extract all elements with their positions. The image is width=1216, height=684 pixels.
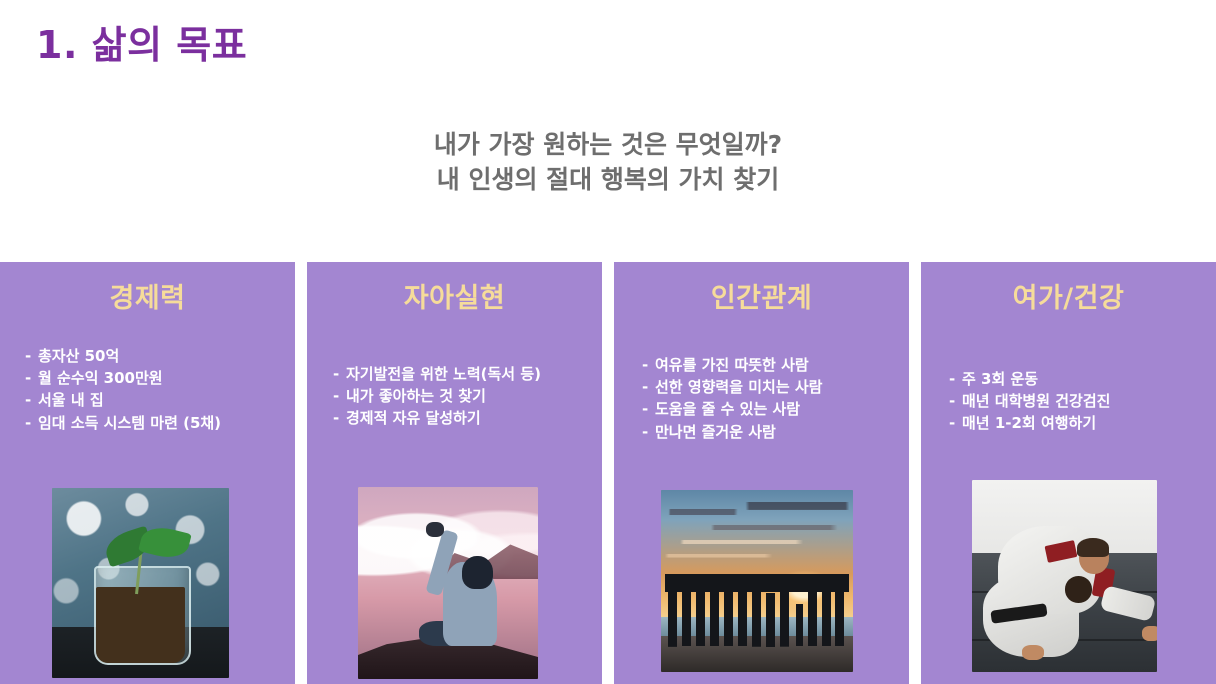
person-raising-fist-on-mountain-above-clouds-photo [358, 487, 538, 679]
list-item-label: 자기발전을 위한 노력(독서 등) [346, 365, 541, 383]
list-item-label: 주 3회 운동 [962, 370, 1038, 388]
list-item-label: 매년 1-2회 여행하기 [962, 414, 1096, 432]
goal-card-relationships[interactable]: 인간관계 -여유를 가진 따뜻한 사람 -선한 영향력을 미치는 사람 -도움을… [614, 262, 909, 684]
list-item: -임대 소득 시스템 마련 (5채) [25, 412, 295, 434]
card-title: 경제력 [109, 283, 185, 315]
card-bullet-list: -여유를 가진 따뜻한 사람 -선한 영향력을 미치는 사람 -도움을 줄 수 … [614, 354, 909, 442]
subtitle-line-1: 내가 가장 원하는 것은 무엇일까? [0, 128, 1216, 163]
list-item-label: 내가 좋아하는 것 찾기 [346, 387, 486, 405]
card-title: 자아실현 [404, 283, 505, 315]
goal-card-leisure-health[interactable]: 여가/건강 -주 3회 운동 -매년 대학병원 건강검진 -매년 1-2회 여행… [921, 262, 1216, 684]
list-item: -도움을 줄 수 있는 사람 [642, 398, 909, 420]
bullet-dash-icon: - [642, 398, 655, 420]
bullet-dash-icon: - [949, 390, 962, 412]
people-holding-hands-beach-sunset-photo [661, 490, 853, 672]
bullet-dash-icon: - [25, 345, 38, 367]
bullet-dash-icon: - [949, 412, 962, 434]
list-item-label: 만나면 즐거운 사람 [655, 423, 776, 441]
list-item: -여유를 가진 따뜻한 사람 [642, 354, 909, 376]
list-item: -자기발전을 위한 노력(독서 등) [333, 363, 602, 385]
jiu-jitsu-grappling-training-photo [972, 480, 1157, 672]
subtitle-line-2: 내 인생의 절대 행복의 가치 찾기 [0, 163, 1216, 198]
card-title: 인간관계 [711, 283, 812, 315]
bullet-dash-icon: - [642, 376, 655, 398]
goal-card-row: 경제력 -총자산 50억 -월 순수익 300만원 -서울 내 집 -임대 소득… [0, 262, 1216, 684]
list-item: -내가 좋아하는 것 찾기 [333, 385, 602, 407]
bullet-dash-icon: - [25, 412, 38, 434]
list-item-label: 매년 대학병원 건강검진 [962, 392, 1110, 410]
list-item-label: 총자산 50억 [38, 347, 119, 365]
list-item-label: 월 순수익 300만원 [38, 369, 163, 387]
list-item-label: 도움을 줄 수 있는 사람 [655, 400, 800, 418]
bullet-dash-icon: - [333, 363, 346, 385]
goal-card-economy[interactable]: 경제력 -총자산 50억 -월 순수익 300만원 -서울 내 집 -임대 소득… [0, 262, 295, 684]
card-bullet-list: -자기발전을 위한 노력(독서 등) -내가 좋아하는 것 찾기 -경제적 자유… [307, 363, 602, 429]
list-item-label: 서울 내 집 [38, 391, 104, 409]
card-bullet-list: -주 3회 운동 -매년 대학병원 건강검진 -매년 1-2회 여행하기 [921, 368, 1216, 434]
list-item: -총자산 50억 [25, 345, 295, 367]
page-title: 1. 삶의 목표 [36, 22, 247, 70]
list-item-label: 경제적 자유 달성하기 [346, 409, 481, 427]
list-item: -서울 내 집 [25, 389, 295, 411]
list-item: -매년 대학병원 건강검진 [949, 390, 1216, 412]
presentation-slide: 1. 삶의 목표 내가 가장 원하는 것은 무엇일까? 내 인생의 절대 행복의… [0, 0, 1216, 684]
bullet-dash-icon: - [642, 421, 655, 443]
bullet-dash-icon: - [333, 407, 346, 429]
bullet-dash-icon: - [949, 368, 962, 390]
goal-card-self-realization[interactable]: 자아실현 -자기발전을 위한 노력(독서 등) -내가 좋아하는 것 찾기 -경… [307, 262, 602, 684]
list-item: -월 순수익 300만원 [25, 367, 295, 389]
list-item: -선한 영향력을 미치는 사람 [642, 376, 909, 398]
bullet-dash-icon: - [25, 367, 38, 389]
plant-growing-in-glass-of-coins-photo [52, 488, 229, 678]
list-item-label: 임대 소득 시스템 마련 (5채) [38, 414, 221, 432]
card-title: 여가/건강 [1013, 283, 1125, 315]
list-item-label: 선한 영향력을 미치는 사람 [655, 378, 822, 396]
bullet-dash-icon: - [642, 354, 655, 376]
slide-subtitle: 내가 가장 원하는 것은 무엇일까? 내 인생의 절대 행복의 가치 찾기 [0, 128, 1216, 197]
list-item-label: 여유를 가진 따뜻한 사람 [655, 356, 809, 374]
list-item: -경제적 자유 달성하기 [333, 407, 602, 429]
card-bullet-list: -총자산 50억 -월 순수익 300만원 -서울 내 집 -임대 소득 시스템… [0, 345, 295, 433]
bullet-dash-icon: - [333, 385, 346, 407]
bullet-dash-icon: - [25, 389, 38, 411]
list-item: -만나면 즐거운 사람 [642, 421, 909, 443]
list-item: -매년 1-2회 여행하기 [949, 412, 1216, 434]
list-item: -주 3회 운동 [949, 368, 1216, 390]
